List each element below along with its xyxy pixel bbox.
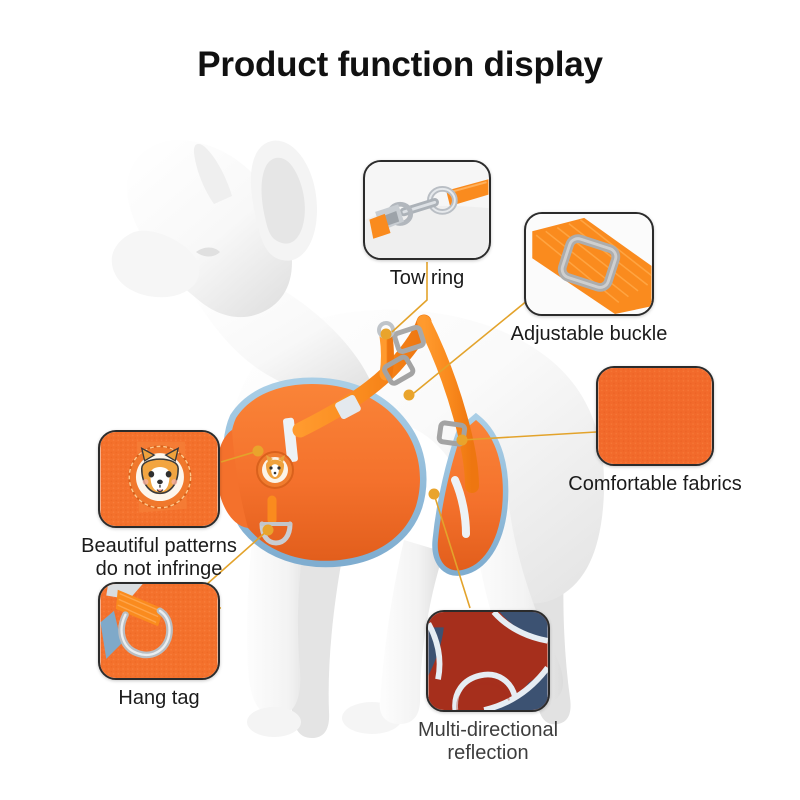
anchor-dot-hang-tag	[263, 525, 274, 536]
callout-label-comfortable-fabrics: Comfortable fabrics	[547, 473, 763, 496]
anchor-dot-comfortable-fabrics	[457, 435, 468, 446]
thumb-tow-ring[interactable]	[363, 160, 491, 260]
callout-label-multi-directional-reflection: Multi-directional reflection	[392, 719, 584, 765]
slider-buckle-icon	[526, 214, 652, 314]
thumb-hang-tag[interactable]	[98, 582, 220, 680]
fabric-swatch-icon	[598, 368, 712, 464]
d-ring-icon	[100, 584, 218, 678]
anchor-dot-adjustable-buckle	[404, 390, 415, 401]
callout-hang-tag[interactable]: Hang tag	[98, 582, 233, 710]
callout-label-hang-tag: Hang tag	[85, 687, 233, 710]
connector-multi-directional-reflection	[434, 494, 470, 608]
connector-comfortable-fabrics	[462, 432, 596, 440]
carabiner-clasp-icon	[365, 162, 489, 258]
connector-adjustable-buckle	[414, 300, 528, 393]
callout-label-adjustable-buckle: Adjustable buckle	[489, 323, 689, 346]
anchor-dot-multi-directional-reflection	[429, 489, 440, 500]
callout-tow-ring[interactable]: Tow ring	[363, 160, 491, 290]
callout-label-tow-ring: Tow ring	[363, 267, 491, 290]
callout-adjustable-buckle[interactable]: Adjustable buckle	[524, 212, 689, 346]
corgi-patch-icon	[100, 432, 218, 526]
thumb-multi-directional-reflection[interactable]	[426, 610, 550, 712]
infographic-canvas: Product function display	[0, 0, 800, 800]
anchor-dots	[253, 329, 468, 536]
anchor-dot-tow-ring	[381, 329, 392, 340]
thumb-adjustable-buckle[interactable]	[524, 212, 654, 316]
callout-comfortable-fabrics[interactable]: Comfortable fabrics	[596, 366, 763, 496]
thumb-beautiful-patterns[interactable]	[98, 430, 220, 528]
callout-multi-directional-reflection[interactable]: Multi-directional reflection	[426, 610, 584, 765]
thumb-comfortable-fabrics[interactable]	[596, 366, 714, 466]
callout-label-beautiful-patterns: Beautiful patterns do not infringe	[61, 535, 257, 581]
callout-beautiful-patterns[interactable]: Beautiful patterns do not infringe	[98, 430, 257, 581]
reflective-strip-icon	[428, 612, 548, 710]
